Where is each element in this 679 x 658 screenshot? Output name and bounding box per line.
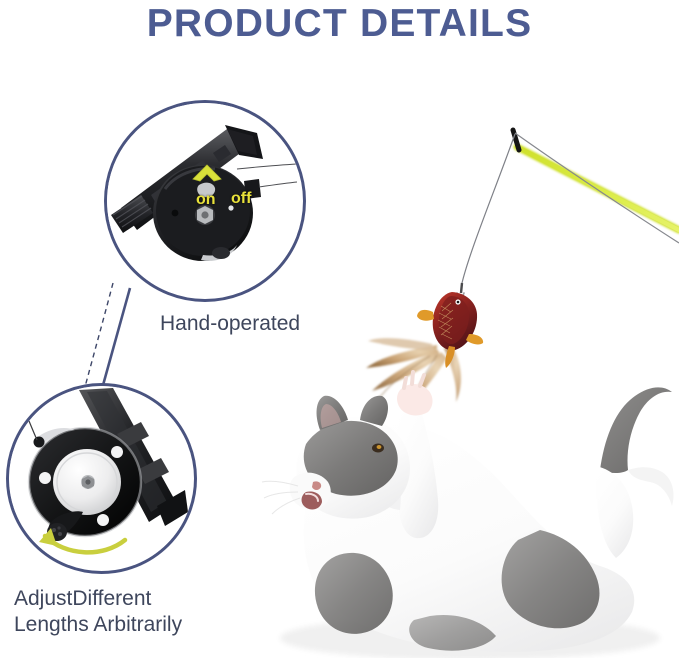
switch-on-label: on <box>196 191 216 209</box>
callout-hand-operated-caption: Hand-operated <box>160 311 300 337</box>
rod-tip-icon <box>513 130 679 230</box>
callout-adjust-lengths[interactable] <box>6 383 197 574</box>
callout-adjust-lengths-image <box>9 386 194 571</box>
switch-off-label: off <box>231 190 251 208</box>
cat-illustration <box>262 372 674 658</box>
callout-adjust-lengths-caption: AdjustDifferent Lengths Arbitrarily <box>14 586 182 638</box>
product-details-image: PRODUCT DETAILS <box>0 0 679 658</box>
